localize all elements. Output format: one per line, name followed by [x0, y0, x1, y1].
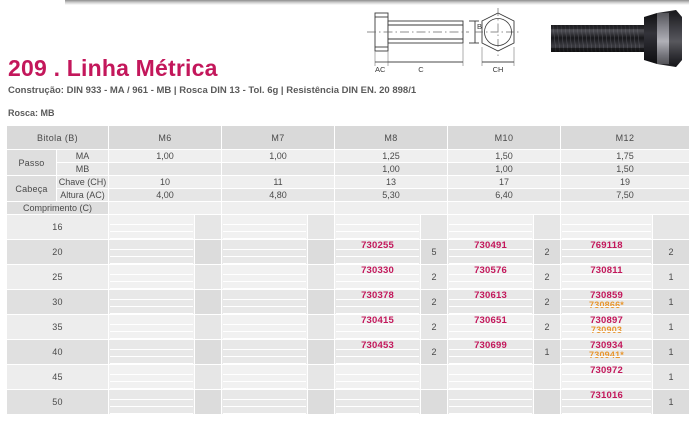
part-number-cell[interactable] — [109, 315, 195, 340]
part-number-cell[interactable] — [222, 340, 308, 365]
table-row: 35730415273065127308977309031 — [7, 315, 689, 340]
specification-table-wrapper: Bitola (B)M6M7M8M10M12PassoMA1,001,001,2… — [6, 125, 689, 431]
spec-value: 10 — [109, 176, 222, 189]
header-size-m8: M8 — [335, 126, 448, 150]
part-number-cell[interactable] — [335, 365, 421, 390]
quantity-cell — [421, 215, 448, 240]
header-size-m7: M7 — [222, 126, 335, 150]
table-row: 3073037827306132730859730866*1 — [7, 290, 689, 315]
length-label: 20 — [7, 240, 109, 265]
page-title: 209 . Linha Métrica — [8, 55, 218, 82]
quantity-cell: 1 — [653, 390, 689, 415]
spec-row: CabeçaChave (CH)1011131719 — [7, 176, 689, 189]
quantity-cell — [308, 390, 335, 415]
part-number-alt: 730866* — [589, 301, 624, 310]
part-number-cell[interactable]: 730613 — [448, 290, 534, 315]
spec-value — [109, 163, 222, 176]
part-number-cell[interactable] — [109, 265, 195, 290]
part-number: 730576 — [474, 266, 507, 276]
quantity-cell — [534, 390, 561, 415]
spec-row: MB1,001,001,50 — [7, 163, 689, 176]
part-number: 730972 — [590, 366, 623, 376]
quantity-cell — [421, 390, 448, 415]
spec-value: 4,80 — [222, 189, 335, 202]
length-label: 50 — [7, 390, 109, 415]
quantity-cell — [195, 240, 222, 265]
quantity-cell — [195, 290, 222, 315]
spec-value: 1,75 — [561, 150, 689, 163]
spec-value: 1,25 — [335, 150, 448, 163]
part-number-cell[interactable]: 730491 — [448, 240, 534, 265]
part-number-cell[interactable] — [561, 215, 653, 240]
spec-value: 7,50 — [561, 189, 689, 202]
spec-value: 6,40 — [448, 189, 561, 202]
part-number-cell[interactable]: 730859730866* — [561, 290, 653, 315]
part-number: 730255 — [361, 241, 394, 251]
table-header-row: Bitola (B)M6M7M8M10M12 — [7, 126, 689, 150]
part-number-cell[interactable]: 731016 — [561, 390, 653, 415]
part-number-cell[interactable]: 769118 — [561, 240, 653, 265]
quantity-cell — [195, 265, 222, 290]
part-number-cell[interactable]: 730378 — [335, 290, 421, 315]
quantity-cell — [195, 215, 222, 240]
part-number-cell[interactable]: 730699 — [448, 340, 534, 365]
spec-group-passo: Passo — [7, 150, 57, 176]
part-number: 730699 — [474, 341, 507, 351]
table-row: 457309721 — [7, 365, 689, 390]
catalog-page: AC C CH B — [0, 0, 689, 431]
quantity-cell — [195, 365, 222, 390]
length-header-spacer — [222, 202, 335, 215]
part-number-cell[interactable] — [222, 240, 308, 265]
quantity-cell: 2 — [421, 315, 448, 340]
part-number-cell[interactable] — [448, 215, 534, 240]
spec-row: PassoMA1,001,001,251,501,75 — [7, 150, 689, 163]
spec-value: 19 — [561, 176, 689, 189]
table-row: 20730255573049127691182 — [7, 240, 689, 265]
technical-drawing: AC C CH B — [357, 2, 529, 74]
product-photo — [543, 4, 685, 70]
part-number-cell[interactable] — [109, 365, 195, 390]
part-number: 730453 — [361, 341, 394, 351]
part-number-cell[interactable] — [448, 390, 534, 415]
spec-value: 1,00 — [448, 163, 561, 176]
length-label: 30 — [7, 290, 109, 315]
spec-value: 1,00 — [335, 163, 448, 176]
thread-note: Rosca: MB — [8, 108, 55, 118]
part-number-cell[interactable] — [448, 365, 534, 390]
table-row: 16 — [7, 215, 689, 240]
spec-value: 17 — [448, 176, 561, 189]
length-label: 35 — [7, 315, 109, 340]
quantity-cell — [308, 215, 335, 240]
header-size-m12: M12 — [561, 126, 689, 150]
quantity-cell: 2 — [534, 265, 561, 290]
spec-value — [222, 163, 335, 176]
part-number-cell[interactable] — [335, 215, 421, 240]
spec-value: 4,00 — [109, 189, 222, 202]
spec-value: 1,00 — [222, 150, 335, 163]
part-number-cell[interactable] — [335, 390, 421, 415]
part-number-cell[interactable] — [222, 390, 308, 415]
dim-label-ch: CH — [493, 65, 504, 74]
part-number-cell[interactable]: 730811 — [561, 265, 653, 290]
part-number-cell[interactable]: 730330 — [335, 265, 421, 290]
quantity-cell — [195, 315, 222, 340]
specification-table: Bitola (B)M6M7M8M10M12PassoMA1,001,001,2… — [6, 125, 689, 415]
length-label: 40 — [7, 340, 109, 365]
table-row: 25730330273057627308111 — [7, 265, 689, 290]
quantity-cell: 2 — [534, 240, 561, 265]
spec-value: 1,50 — [561, 163, 689, 176]
part-number-cell[interactable] — [222, 315, 308, 340]
part-number-cell[interactable]: 730576 — [448, 265, 534, 290]
length-header-spacer — [448, 202, 561, 215]
part-number-cell[interactable] — [109, 215, 195, 240]
part-number: 730811 — [590, 266, 622, 276]
quantity-cell — [653, 215, 689, 240]
part-number-cell[interactable]: 730415 — [335, 315, 421, 340]
length-header-spacer — [561, 202, 689, 215]
quantity-cell — [308, 265, 335, 290]
spec-label-chave-ch: Chave (CH) — [57, 176, 109, 189]
dim-label-ac: AC — [375, 65, 386, 74]
length-header-spacer — [335, 202, 448, 215]
part-number: 730415 — [361, 316, 394, 326]
quantity-cell: 1 — [653, 290, 689, 315]
quantity-cell: 5 — [421, 240, 448, 265]
part-number-cell[interactable]: 730651 — [448, 315, 534, 340]
part-number: 731016 — [590, 391, 623, 401]
quantity-cell: 1 — [653, 340, 689, 365]
dim-label-c: C — [418, 65, 424, 74]
quantity-cell — [195, 390, 222, 415]
length-header-spacer — [109, 202, 222, 215]
part-number: 769118 — [590, 241, 622, 251]
quantity-cell: 2 — [653, 240, 689, 265]
quantity-cell: 2 — [534, 315, 561, 340]
part-number-cell[interactable] — [109, 340, 195, 365]
spec-value: 13 — [335, 176, 448, 189]
spec-value: 1,50 — [448, 150, 561, 163]
spec-value: 5,30 — [335, 189, 448, 202]
part-number-cell[interactable] — [222, 265, 308, 290]
table-body: Bitola (B)M6M7M8M10M12PassoMA1,001,001,2… — [7, 126, 689, 415]
spec-value: 11 — [222, 176, 335, 189]
part-number-alt: 730941* — [589, 351, 624, 360]
dim-label-b: B — [477, 22, 482, 31]
quantity-cell: 1 — [534, 340, 561, 365]
length-header-row: Comprimento (C) — [7, 202, 689, 215]
spec-group-cabeça: Cabeça — [7, 176, 57, 202]
quantity-cell: 1 — [653, 365, 689, 390]
part-number-cell[interactable]: 730972 — [561, 365, 653, 390]
quantity-cell: 2 — [421, 265, 448, 290]
drawing-svg: AC C CH B — [357, 2, 529, 74]
length-label: 16 — [7, 215, 109, 240]
part-number-alt: 730903 — [591, 326, 622, 335]
part-number: 730651 — [474, 316, 507, 326]
header-size-m10: M10 — [448, 126, 561, 150]
quantity-cell: 2 — [421, 290, 448, 315]
quantity-cell — [308, 340, 335, 365]
quantity-cell — [534, 365, 561, 390]
quantity-cell — [308, 240, 335, 265]
length-label: 25 — [7, 265, 109, 290]
quantity-cell — [195, 340, 222, 365]
spec-label-altura-ac: Altura (AC) — [57, 189, 109, 202]
quantity-cell — [308, 365, 335, 390]
part-number-cell[interactable] — [109, 240, 195, 265]
part-number: 730613 — [474, 291, 507, 301]
spec-label-mb: MB — [57, 163, 109, 176]
spec-label-ma: MA — [57, 150, 109, 163]
quantity-cell — [534, 215, 561, 240]
page-subtitle: Construção: DIN 933 - MA / 961 - MB | Ro… — [8, 85, 416, 96]
part-number-cell[interactable] — [109, 390, 195, 415]
part-number-cell[interactable]: 730897730903 — [561, 315, 653, 340]
spec-row: Altura (AC)4,004,805,306,407,50 — [7, 189, 689, 202]
part-number: 730330 — [361, 266, 394, 276]
part-number-cell[interactable] — [222, 290, 308, 315]
length-header-label: Comprimento (C) — [7, 202, 109, 215]
quantity-cell — [308, 315, 335, 340]
part-number: 730378 — [361, 291, 394, 301]
bolt-photo-svg — [543, 4, 685, 70]
header-bitola: Bitola (B) — [7, 126, 109, 150]
part-number: 730491 — [474, 241, 507, 251]
part-number-cell[interactable]: 730255 — [335, 240, 421, 265]
part-number-cell[interactable] — [222, 365, 308, 390]
quantity-cell: 2 — [421, 340, 448, 365]
quantity-cell: 1 — [653, 315, 689, 340]
part-number-cell[interactable] — [109, 290, 195, 315]
table-row: 4073045327306991730934730941*1 — [7, 340, 689, 365]
quantity-cell — [421, 365, 448, 390]
part-number-cell[interactable] — [222, 215, 308, 240]
part-number-cell[interactable]: 730453 — [335, 340, 421, 365]
part-number-cell[interactable]: 730934730941* — [561, 340, 653, 365]
table-row: 507310161 — [7, 390, 689, 415]
quantity-cell: 1 — [653, 265, 689, 290]
length-label: 45 — [7, 365, 109, 390]
spec-value: 1,00 — [109, 150, 222, 163]
quantity-cell — [308, 290, 335, 315]
header-size-m6: M6 — [109, 126, 222, 150]
quantity-cell: 2 — [534, 290, 561, 315]
